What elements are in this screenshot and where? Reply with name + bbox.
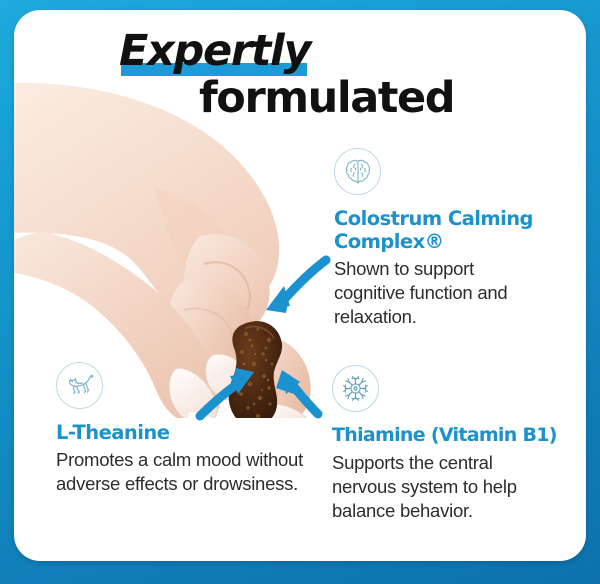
brain-icon [334,148,381,195]
infographic-root: Expertly formulated [0,0,600,584]
feature-title: Thiamine (Vitamin B1) [332,424,582,447]
feature-body: Supports the central nervous system to h… [332,451,547,523]
neuron-icon [332,365,379,412]
feature-theanine: L-Theanine Promotes a calm mood without … [56,362,318,496]
feature-body: Shown to support cognitive function and … [334,257,524,329]
jumping-dog-icon [56,362,103,409]
feature-body: Promotes a calm mood without adverse eff… [56,448,306,496]
feature-colostrum: Colostrum Calming Complex® Shown to supp… [334,148,560,329]
feature-thiamine: Thiamine (Vitamin B1) Supports the centr… [332,365,582,523]
feature-title: Colostrum Calming Complex® [334,207,560,253]
content-card: Expertly formulated [14,10,586,561]
feature-title: L-Theanine [56,421,318,444]
